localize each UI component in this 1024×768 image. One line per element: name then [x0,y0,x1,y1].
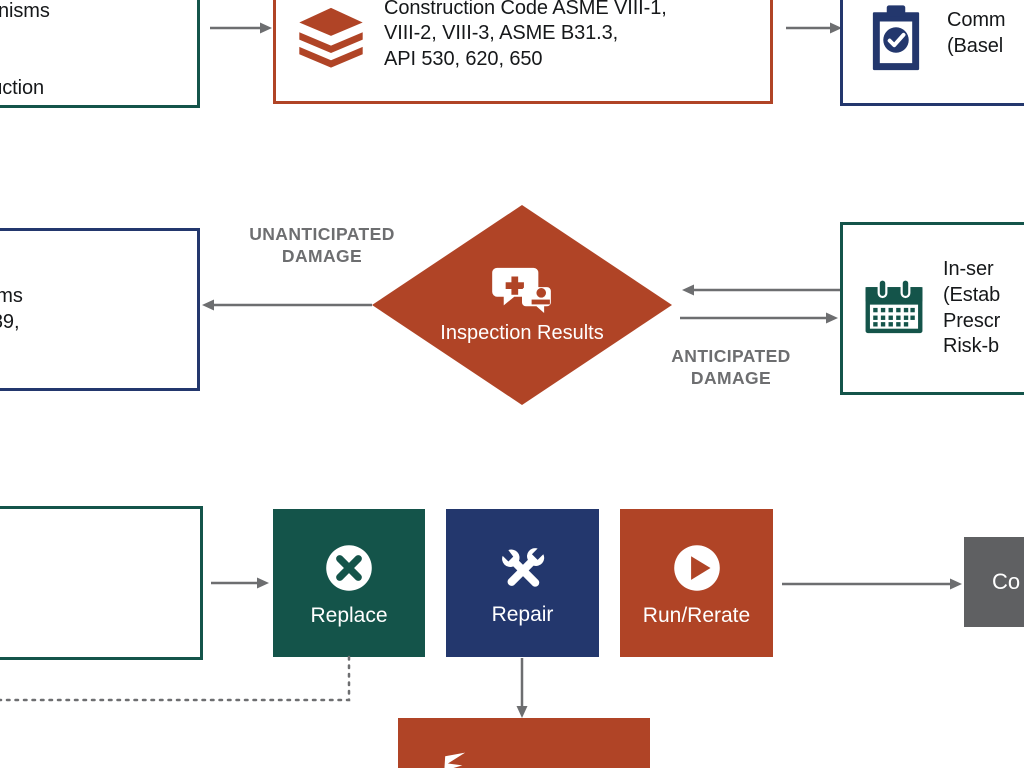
damage-mechanisms-text: e Mechanisms 88, WRC 489, [0,284,23,335]
arrow-code-to-commissioning [786,20,844,36]
calendar-icon [859,274,929,344]
run-rerate-label: Run/Rerate [643,605,750,626]
arrow-design-to-code [210,20,274,36]
arrow-inspection-to-damage [200,297,372,313]
node-repair[interactable]: Repair [446,509,599,657]
commissioning-text: Comm (Basel [947,8,1006,59]
node-in-service-inspection[interactable]: In-ser (Estab Prescr Risk-b [840,222,1024,395]
node-continued-operation[interactable]: Co [964,537,1024,627]
repair-label: Repair [492,604,554,625]
node-replace[interactable]: Replace [273,509,425,657]
continued-label: Co [992,571,1020,593]
x-circle-icon [322,541,376,595]
welding-icon [418,749,476,768]
in-service-text: In-ser (Estab Prescr Risk-b [943,257,1000,359]
design-damage-mechanisms-text: ge Mechanisms 489) of Construction [0,0,50,101]
inspection-speech-plus-icon [491,264,553,314]
clipboard-check-icon [859,3,933,77]
arrow-repair-to-pcc2 [514,658,530,720]
node-inspection-results[interactable]: Inspection Results [372,205,672,405]
tools-icon [497,542,549,594]
arrow-runrerate-to-continued [782,576,964,592]
arrow-inspection-to-inservice [680,310,840,326]
construction-code-text: Construction Code ASME VIII-1, VIII-2, V… [384,0,667,72]
inspection-results-label: Inspection Results [440,322,603,346]
node-commissioning[interactable]: Comm (Basel [840,0,1024,106]
flowchart-canvas: ge Mechanisms 489) of Construction Const… [0,0,1024,768]
node-run-rerate[interactable]: Run/Rerate [620,509,773,657]
node-construction-code[interactable]: Construction Code ASME VIII-1, VIII-2, V… [273,0,773,104]
arrow-inservice-to-inspection [680,282,840,298]
play-circle-icon [670,541,724,595]
node-asme-pcc2[interactable]: ASME PCC2 [398,718,650,768]
dotted-replace-return [0,657,360,712]
replace-label: Replace [310,605,387,626]
arrow-ffs-to-replace [211,575,271,591]
label-anticipated-damage: ANTICIPATED DAMAGE [648,346,814,390]
books-icon [292,3,370,81]
node-design-damage-mechanisms[interactable]: ge Mechanisms 489) of Construction [0,0,200,108]
node-fitness-for-service[interactable]: vice: FFS-1 [0,506,203,660]
node-damage-mechanisms[interactable]: e Mechanisms 88, WRC 489, [0,228,200,391]
